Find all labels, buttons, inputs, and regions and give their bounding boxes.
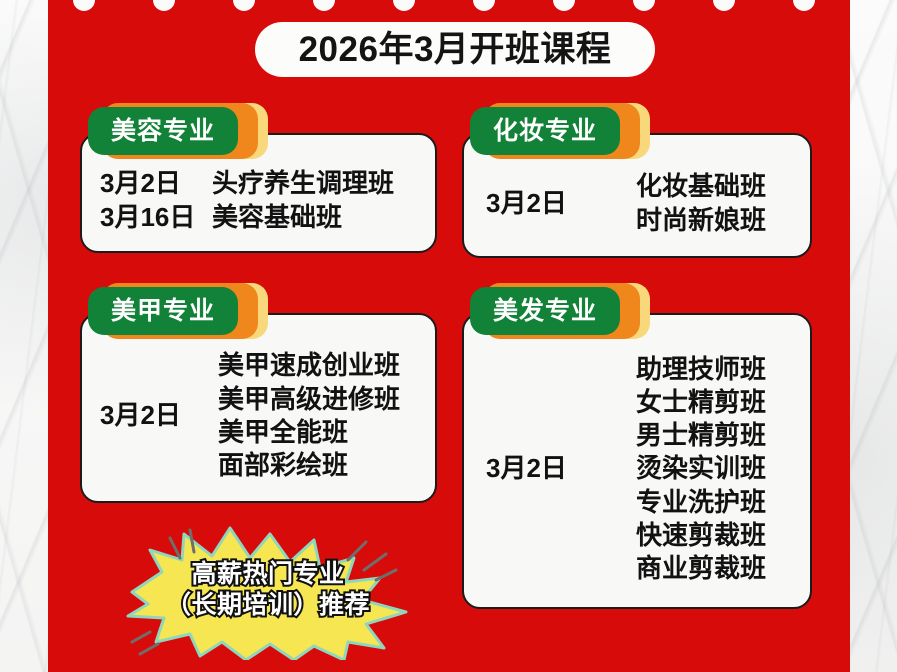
- course-name: 头疗养生调理班: [212, 167, 394, 201]
- table-row: 3月16日 美容基础班: [100, 201, 394, 235]
- course-date: 3月2日: [100, 167, 212, 201]
- tab-label: 美容专业: [111, 119, 215, 144]
- course-name: 面部彩绘班: [218, 449, 400, 482]
- scallop-dot-row: [48, 0, 850, 14]
- tab-label: 化妆专业: [493, 119, 597, 144]
- course-name: 美甲速成创业班: [218, 349, 400, 382]
- tab-label: 美发专业: [493, 299, 597, 324]
- course-name: 烫染实训班: [636, 452, 766, 485]
- course-name: 化妆基础班: [636, 170, 766, 203]
- badge-text: 高薪热门专业 （长期培训）推荐: [118, 520, 418, 660]
- course-name: 美甲全能班: [218, 416, 400, 449]
- table-row: 3月2日 头疗养生调理班: [100, 167, 394, 201]
- badge-line-2: （长期培训）推荐: [166, 591, 370, 621]
- course-name: 快速剪裁班: [636, 519, 766, 552]
- card-meijia[interactable]: 3月2日 美甲速成创业班 美甲高级进修班 美甲全能班 面部彩绘班: [80, 313, 437, 503]
- course-name: 商业剪裁班: [636, 552, 766, 585]
- course-date: 3月2日: [100, 399, 218, 432]
- tab-label-box: 美容专业: [88, 107, 238, 155]
- course-name: 女士精剪班: [636, 386, 766, 419]
- course-list: 助理技师班 女士精剪班 男士精剪班 烫染实训班 专业洗护班 快速剪裁班 商业剪裁…: [636, 353, 766, 586]
- course-list: 美甲速成创业班 美甲高级进修班 美甲全能班 面部彩绘班: [218, 349, 400, 482]
- course-name: 时尚新娘班: [636, 204, 766, 237]
- tab-label-box: 化妆专业: [470, 107, 620, 155]
- course-date: 3月2日: [486, 187, 636, 220]
- highlight-badge[interactable]: 高薪热门专业 （长期培训）推荐: [118, 520, 418, 660]
- course-list: 化妆基础班 时尚新娘班: [636, 170, 766, 237]
- course-name: 美容基础班: [212, 201, 342, 235]
- tab-label: 美甲专业: [111, 299, 215, 324]
- course-date: 3月16日: [100, 201, 212, 235]
- page-title-text: 2026年3月开班课程: [299, 32, 612, 67]
- tab-label-box: 美甲专业: [88, 287, 238, 335]
- tab-label-box: 美发专业: [470, 287, 620, 335]
- badge-line-1: 高薪热门专业: [191, 560, 344, 590]
- card-meifa[interactable]: 3月2日 助理技师班 女士精剪班 男士精剪班 烫染实训班 专业洗护班 快速剪裁班…: [462, 313, 812, 609]
- page-title: 2026年3月开班课程: [255, 22, 655, 77]
- course-name: 专业洗护班: [636, 486, 766, 519]
- course-date: 3月2日: [486, 452, 636, 485]
- course-name: 助理技师班: [636, 353, 766, 386]
- poster-canvas: 2026年3月开班课程 3月2日 头疗养生调理班 3月16日 美容基础班 美容专…: [0, 0, 897, 672]
- course-name: 美甲高级进修班: [218, 383, 400, 416]
- course-name: 男士精剪班: [636, 419, 766, 452]
